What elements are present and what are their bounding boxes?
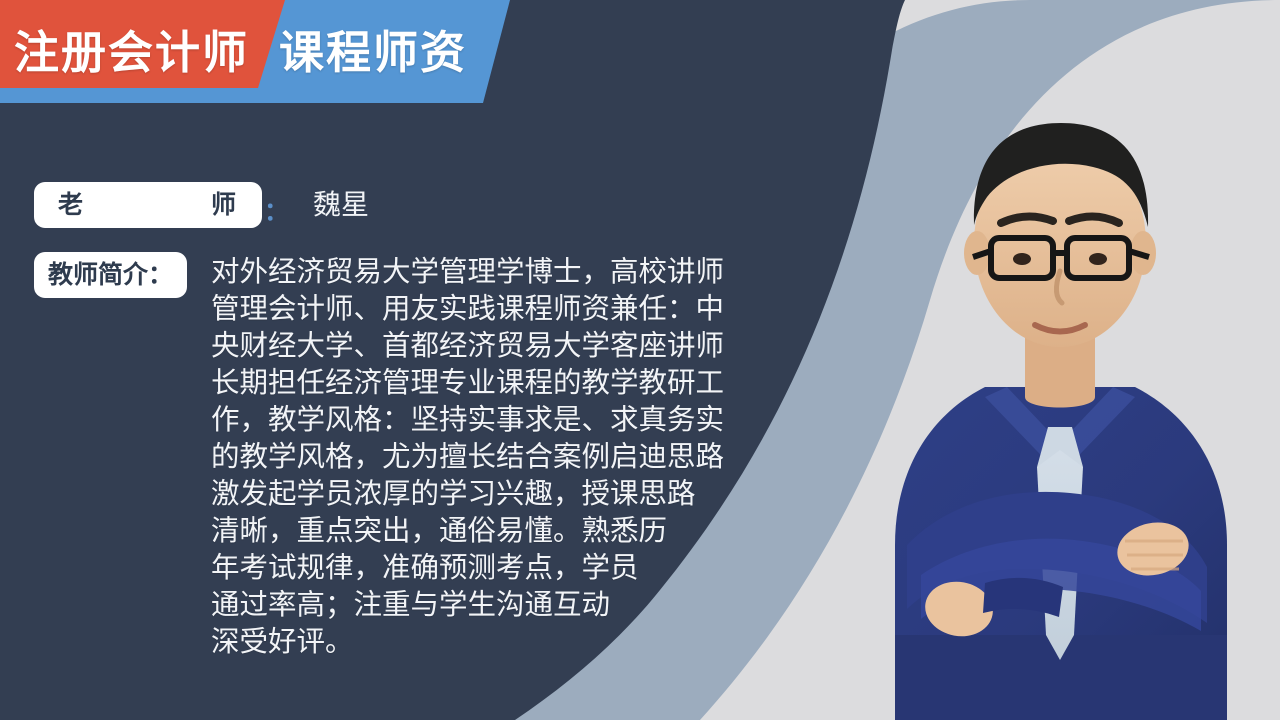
teacher-label-pill: 老 师	[34, 182, 262, 228]
teacher-bio-row: 教师简介： 对外经济贸易大学管理学博士，高校讲师 管理会计师、用友实践课程师资兼…	[34, 252, 824, 662]
teacher-label-colon: ：	[264, 182, 289, 228]
banner-category-label: 注册会计师	[14, 16, 249, 81]
teacher-bio-value: 对外经济贸易大学管理学博士，高校讲师 管理会计师、用友实践课程师资兼任：中 央财…	[211, 252, 724, 662]
teacher-name-value: 魏星	[313, 182, 369, 221]
teacher-label-text: 老 师	[54, 191, 262, 219]
header-banner: 注册会计师 课程师资	[0, 0, 620, 108]
slide-root: 注册会计师 课程师资 老 师 ： 魏星 教师简介： 对外经济贸易大学管理学博士，…	[0, 0, 1280, 720]
banner-title: 注册会计师 课程师资	[0, 12, 467, 84]
instructor-portrait	[835, 75, 1280, 720]
banner-subtitle-label: 课程师资	[279, 16, 467, 81]
teacher-name-row: 老 师 ： 魏星	[34, 182, 824, 228]
bio-label-text: 教师简介：	[48, 261, 173, 289]
bio-label-pill: 教师简介：	[34, 252, 187, 298]
instructor-info: 老 师 ： 魏星 教师简介： 对外经济贸易大学管理学博士，高校讲师 管理会计师、…	[34, 182, 824, 662]
